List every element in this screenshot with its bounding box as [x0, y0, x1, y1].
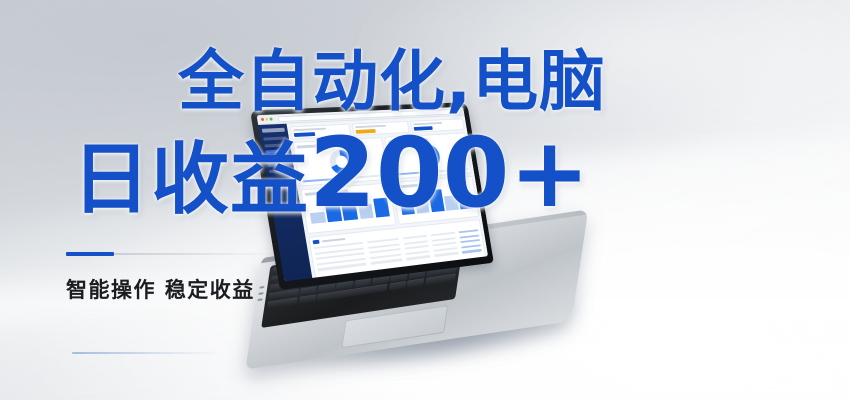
table-title	[322, 238, 346, 243]
accent-divider-gray	[114, 253, 276, 255]
accent-divider-blue	[66, 252, 114, 256]
promo-banner: 全自动化,电脑 日收益200+ 智能操作 稳定收益	[0, 0, 850, 400]
accent-divider	[66, 252, 276, 256]
sidebar-logo	[262, 128, 285, 133]
headline-amount: 200+	[309, 117, 590, 229]
headline-daily-income-label: 日收益	[72, 135, 309, 225]
table-badge-icon	[313, 240, 320, 245]
headline-line-1: 全自动化,电脑	[178, 48, 606, 116]
subtitle: 智能操作 稳定收益	[66, 274, 255, 304]
bottom-accent-line	[72, 352, 222, 354]
headline-line-2: 日收益200+	[72, 133, 590, 220]
